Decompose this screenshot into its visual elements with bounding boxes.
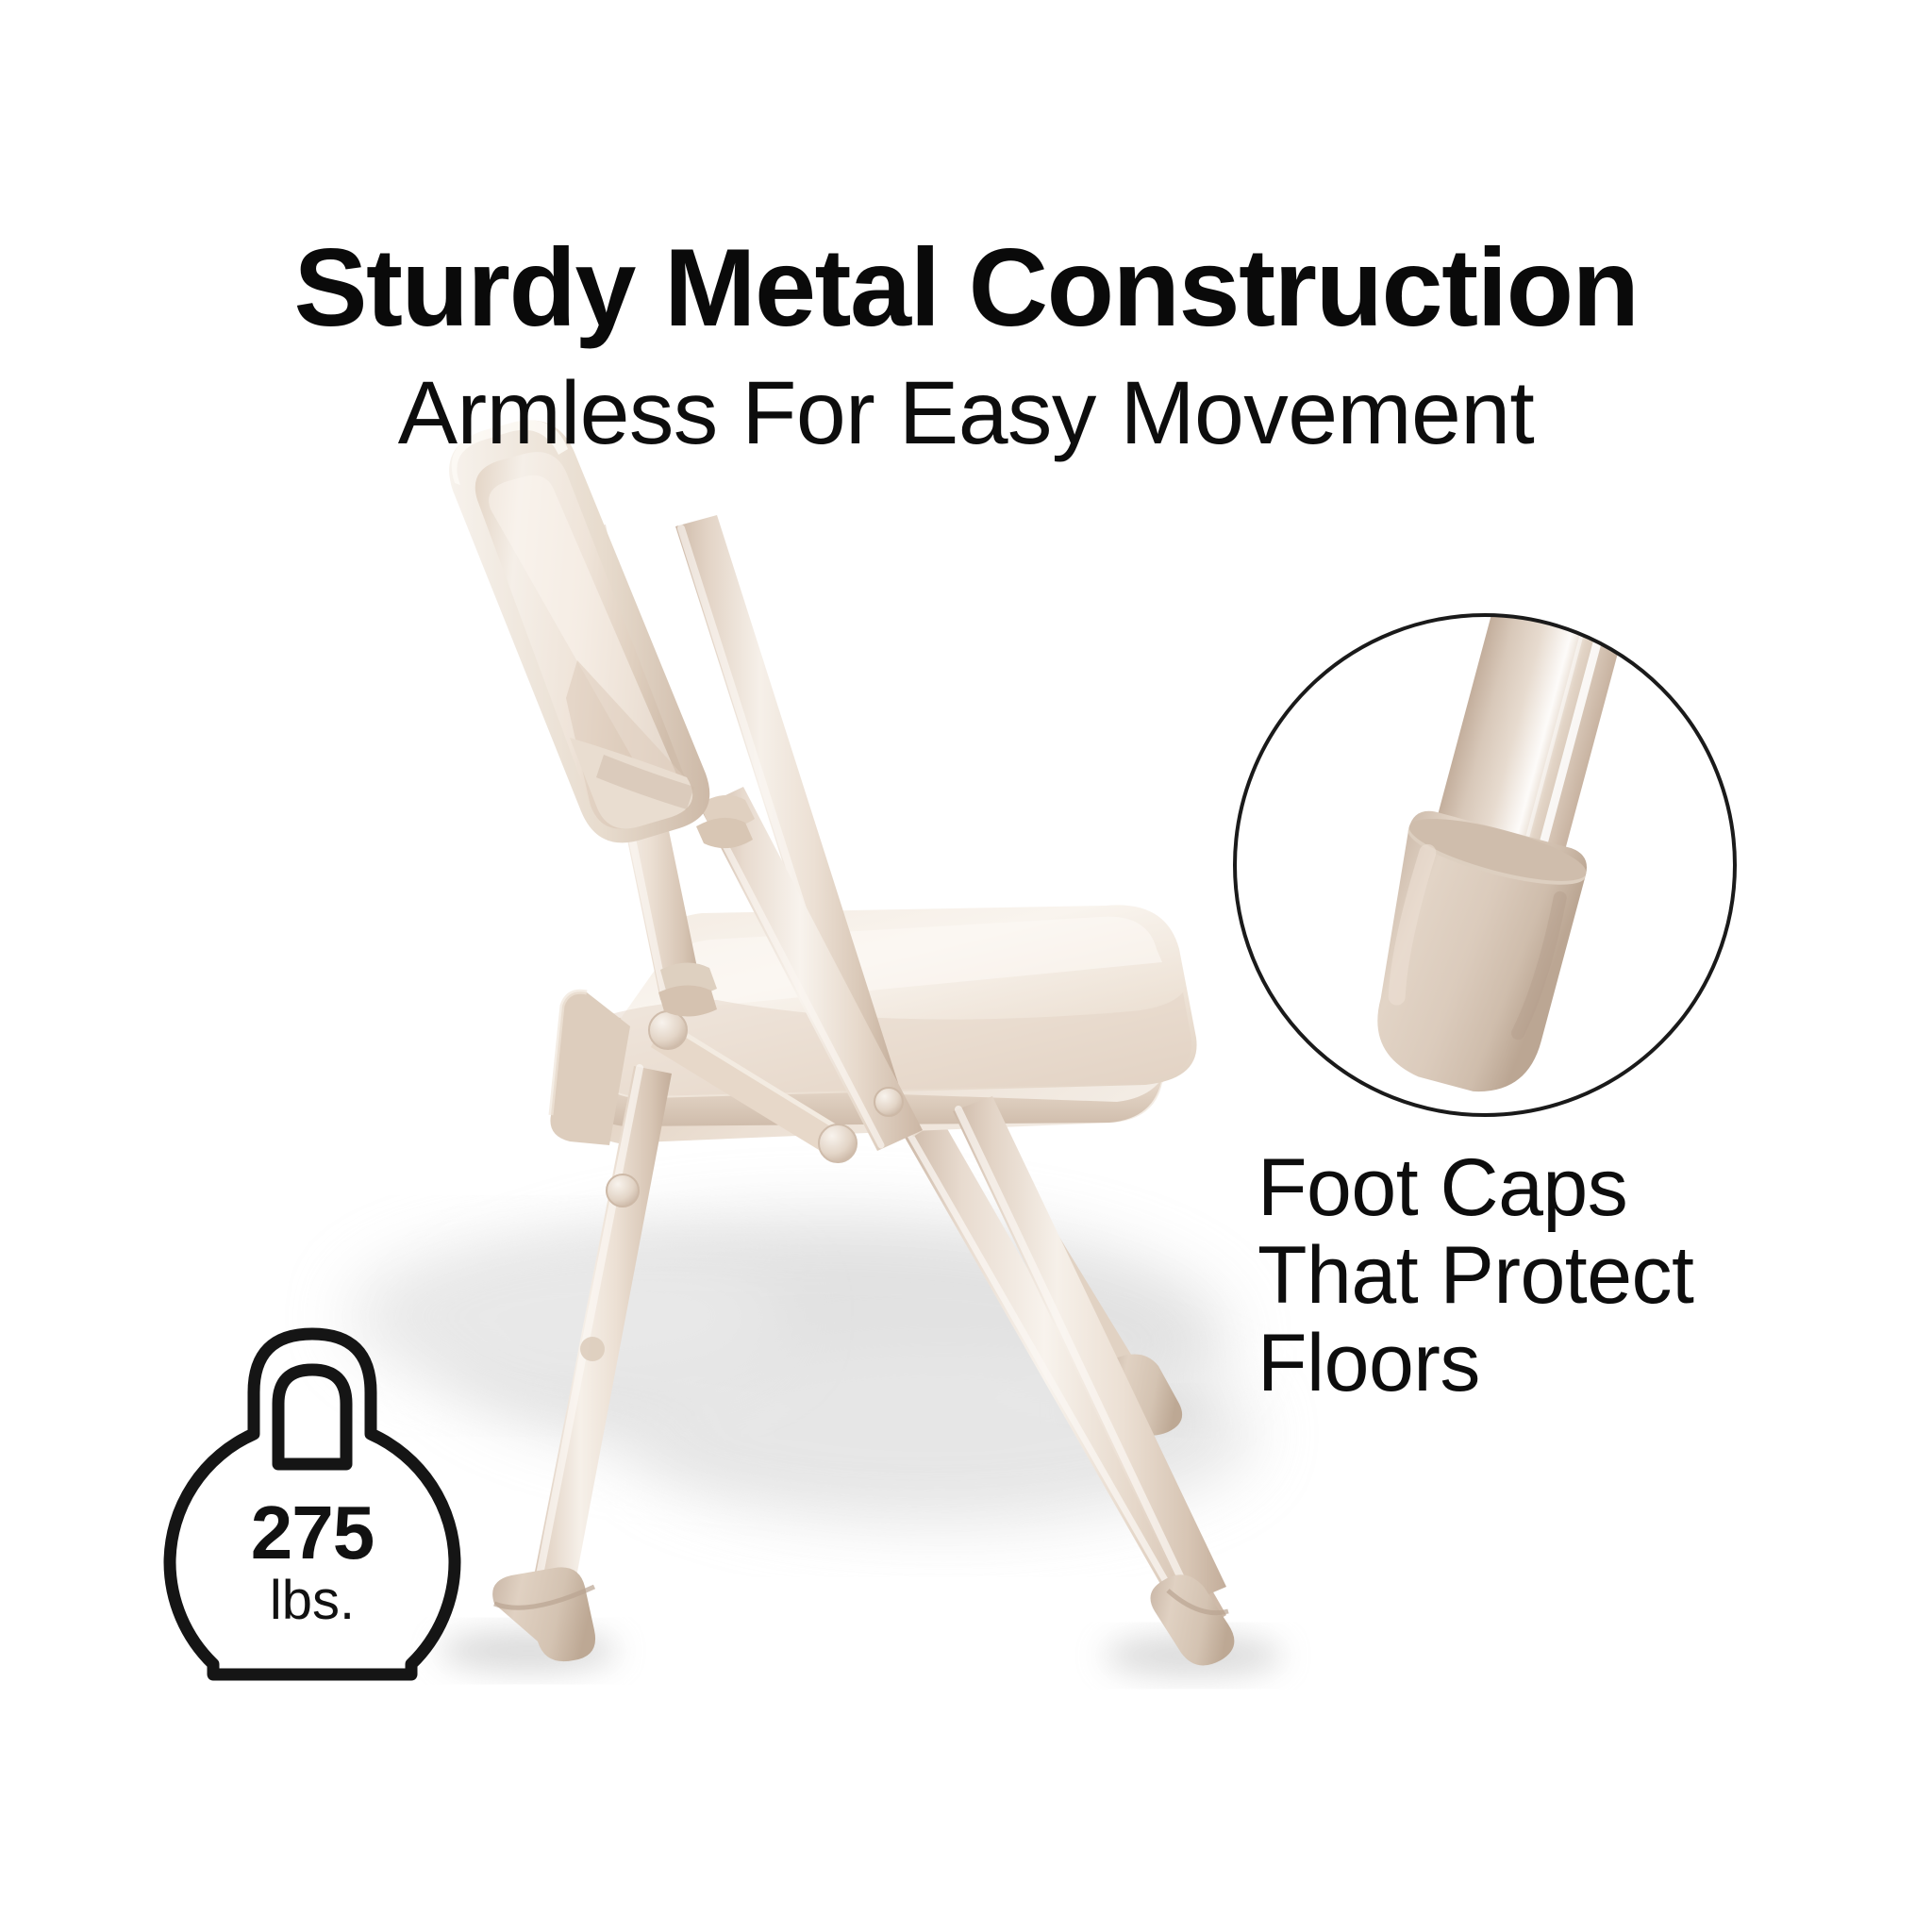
- chair-backrest: [449, 420, 709, 842]
- chair-seat: [550, 905, 1196, 1145]
- weight-capacity-value: 275: [170, 1495, 455, 1571]
- floor-shadow: [349, 1217, 1283, 1676]
- chair-rear-leg: [854, 1024, 1226, 1637]
- kettlebell-handle: [278, 1370, 346, 1464]
- chair-collar: [658, 962, 717, 1016]
- chair-rear-brace: [981, 1140, 1182, 1436]
- footcaps-caption-line-3: Floors: [1257, 1320, 1824, 1407]
- page-subtitle: Armless For Easy Movement: [0, 369, 1932, 458]
- chair-cross-brace: [696, 787, 923, 1151]
- chair-rivets: [580, 1088, 903, 1361]
- chair-front-leg: [492, 1066, 672, 1661]
- footcaps-caption: Foot Caps That Protect Floors: [1257, 1144, 1824, 1407]
- chair-back-frame: [564, 515, 898, 1094]
- chair-folding-strut: [649, 1011, 857, 1162]
- infographic-canvas: Sturdy Metal Construction Armless For Ea…: [0, 0, 1932, 1932]
- footcaps-caption-line-2: That Protect: [1257, 1232, 1824, 1320]
- weight-capacity-unit: lbs.: [170, 1574, 455, 1628]
- detail-circle-content: [1226, 555, 1755, 1132]
- page-title: Sturdy Metal Construction: [0, 232, 1932, 342]
- chair-front-right-leg: [953, 1096, 1234, 1665]
- heading-block: Sturdy Metal Construction Armless For Ea…: [0, 232, 1932, 458]
- footcaps-caption-line-1: Foot Caps: [1257, 1144, 1824, 1232]
- detail-circle-outline: [1235, 615, 1735, 1115]
- chair-back-junction: [596, 755, 694, 809]
